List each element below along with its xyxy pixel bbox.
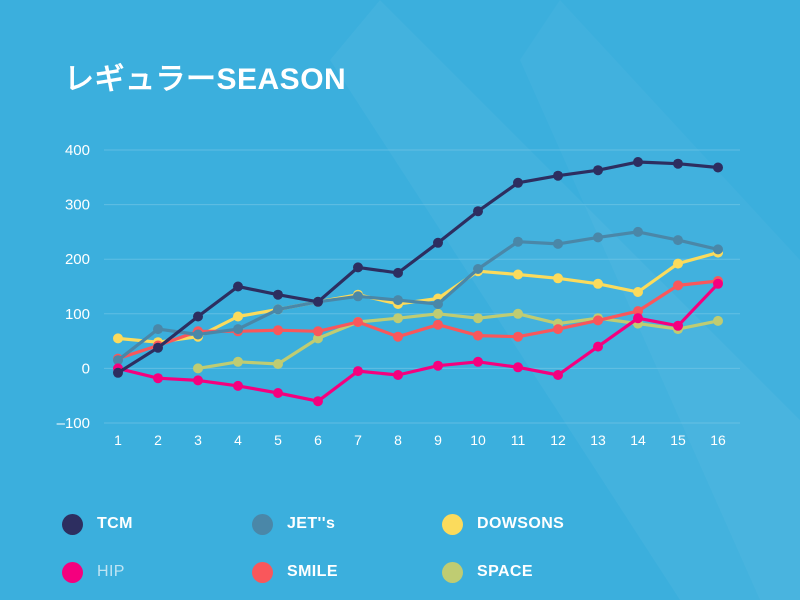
legend-item-dowsons[interactable]: DOWSONS <box>442 514 642 535</box>
data-point <box>153 373 163 383</box>
legend-item-space[interactable]: SPACE <box>442 562 642 583</box>
data-point <box>393 295 403 305</box>
x-axis-tick-label: 1 <box>114 432 122 448</box>
data-point <box>593 342 603 352</box>
data-point <box>153 343 163 353</box>
legend-color-swatch <box>252 514 273 535</box>
series-jet-s <box>113 227 723 365</box>
data-point <box>713 316 723 326</box>
data-point <box>193 330 203 340</box>
chart-plot-area: 4003002001000–100 1234567891011121314151… <box>0 0 800 470</box>
data-point <box>193 375 203 385</box>
y-axis-tick-label: 200 <box>65 251 90 268</box>
legend-item-label: DOWSONS <box>477 515 564 533</box>
y-axis-tick-label: –100 <box>57 415 90 432</box>
x-axis-tick-label: 16 <box>710 432 726 448</box>
series-tcm <box>113 157 723 378</box>
data-point <box>113 368 123 378</box>
data-point <box>233 324 243 334</box>
data-point <box>273 325 283 335</box>
legend-item-smile[interactable]: SMILE <box>252 562 442 583</box>
data-point <box>433 320 443 330</box>
data-point <box>513 270 523 280</box>
legend-color-swatch <box>442 562 463 583</box>
legend-item-label: TCM <box>97 515 133 533</box>
data-point <box>313 297 323 307</box>
data-point <box>593 165 603 175</box>
data-point <box>553 273 563 283</box>
legend-item-label: JET''s <box>287 515 335 533</box>
data-point <box>553 239 563 249</box>
data-point <box>233 381 243 391</box>
x-axis-tick-label: 10 <box>470 432 486 448</box>
data-point <box>233 282 243 292</box>
data-point <box>553 324 563 334</box>
data-point <box>433 361 443 371</box>
y-axis-tick-label: 100 <box>65 306 90 323</box>
data-point <box>393 370 403 380</box>
x-axis-tick-label: 7 <box>354 432 362 448</box>
y-axis-tick-labels: 4003002001000–100 <box>57 142 90 432</box>
x-axis-tick-label: 11 <box>511 432 526 448</box>
series-line <box>118 232 718 360</box>
data-point <box>673 235 683 245</box>
chart-page: レギュラーSEASON 4003002001000–100 1234567891… <box>0 0 800 600</box>
data-point <box>633 227 643 237</box>
data-point <box>513 332 523 342</box>
x-axis-tick-label: 13 <box>590 432 606 448</box>
data-point <box>513 237 523 247</box>
series-line <box>118 281 718 359</box>
data-point <box>233 312 243 322</box>
data-point <box>273 304 283 314</box>
data-point <box>473 313 483 323</box>
data-point <box>713 279 723 289</box>
data-point <box>393 332 403 342</box>
legend-item-label: SPACE <box>477 563 533 581</box>
data-point <box>393 313 403 323</box>
legend-color-swatch <box>62 562 83 583</box>
data-point <box>273 290 283 300</box>
data-point <box>313 326 323 336</box>
data-point <box>353 366 363 376</box>
data-point <box>713 163 723 173</box>
data-point <box>433 299 443 309</box>
data-point <box>593 232 603 242</box>
data-point <box>713 244 723 254</box>
y-axis-tick-label: 400 <box>65 142 90 159</box>
data-point <box>433 309 443 319</box>
data-point <box>593 279 603 289</box>
legend-item-label: SMILE <box>287 563 338 581</box>
x-axis-tick-label: 5 <box>274 432 282 448</box>
data-point <box>633 313 643 323</box>
data-point <box>473 264 483 274</box>
data-point <box>433 238 443 248</box>
data-point <box>513 178 523 188</box>
data-point <box>393 268 403 278</box>
x-axis-tick-label: 12 <box>550 432 566 448</box>
legend-item-label: HIP <box>97 563 125 581</box>
x-axis-tick-label: 6 <box>314 432 322 448</box>
legend-color-swatch <box>62 514 83 535</box>
data-point <box>513 362 523 372</box>
x-axis-tick-label: 4 <box>234 432 242 448</box>
series-line <box>118 253 718 343</box>
data-point <box>553 171 563 181</box>
data-point <box>153 324 163 334</box>
data-point <box>473 206 483 216</box>
series-hip <box>113 279 723 406</box>
data-point <box>593 315 603 325</box>
data-point <box>513 309 523 319</box>
data-point <box>353 317 363 327</box>
data-point <box>633 157 643 167</box>
data-point <box>273 388 283 398</box>
data-point <box>233 357 243 367</box>
data-point <box>193 312 203 322</box>
data-point <box>473 331 483 341</box>
chart-legend: TCMJET''sDOWSONSHIPSMILESPACE <box>62 500 662 596</box>
x-axis-tick-label: 15 <box>670 432 686 448</box>
data-point <box>113 333 123 343</box>
data-point <box>273 359 283 369</box>
x-axis-tick-label: 2 <box>154 432 162 448</box>
data-point <box>633 287 643 297</box>
x-axis-tick-label: 9 <box>434 432 442 448</box>
legend-item-hip[interactable]: HIP <box>62 562 252 583</box>
line-chart-svg: 4003002001000–100 1234567891011121314151… <box>0 0 800 470</box>
data-point <box>193 363 203 373</box>
data-point <box>673 321 683 331</box>
data-point <box>313 396 323 406</box>
y-axis-tick-label: 300 <box>65 197 90 214</box>
data-point <box>473 357 483 367</box>
data-point <box>673 259 683 269</box>
data-point <box>673 280 683 290</box>
data-point <box>353 291 363 301</box>
data-point <box>553 370 563 380</box>
legend-item-jet-s[interactable]: JET''s <box>252 514 442 535</box>
y-axis-tick-label: 0 <box>82 360 90 377</box>
data-point <box>353 262 363 272</box>
data-point <box>673 159 683 169</box>
series-line <box>118 162 718 373</box>
legend-color-swatch <box>442 514 463 535</box>
legend-item-tcm[interactable]: TCM <box>62 514 252 535</box>
x-axis-tick-label: 8 <box>394 432 402 448</box>
x-axis-tick-labels: 12345678910111213141516 <box>114 432 726 448</box>
x-axis-tick-label: 3 <box>194 432 202 448</box>
legend-color-swatch <box>252 562 273 583</box>
x-axis-tick-label: 14 <box>630 432 646 448</box>
